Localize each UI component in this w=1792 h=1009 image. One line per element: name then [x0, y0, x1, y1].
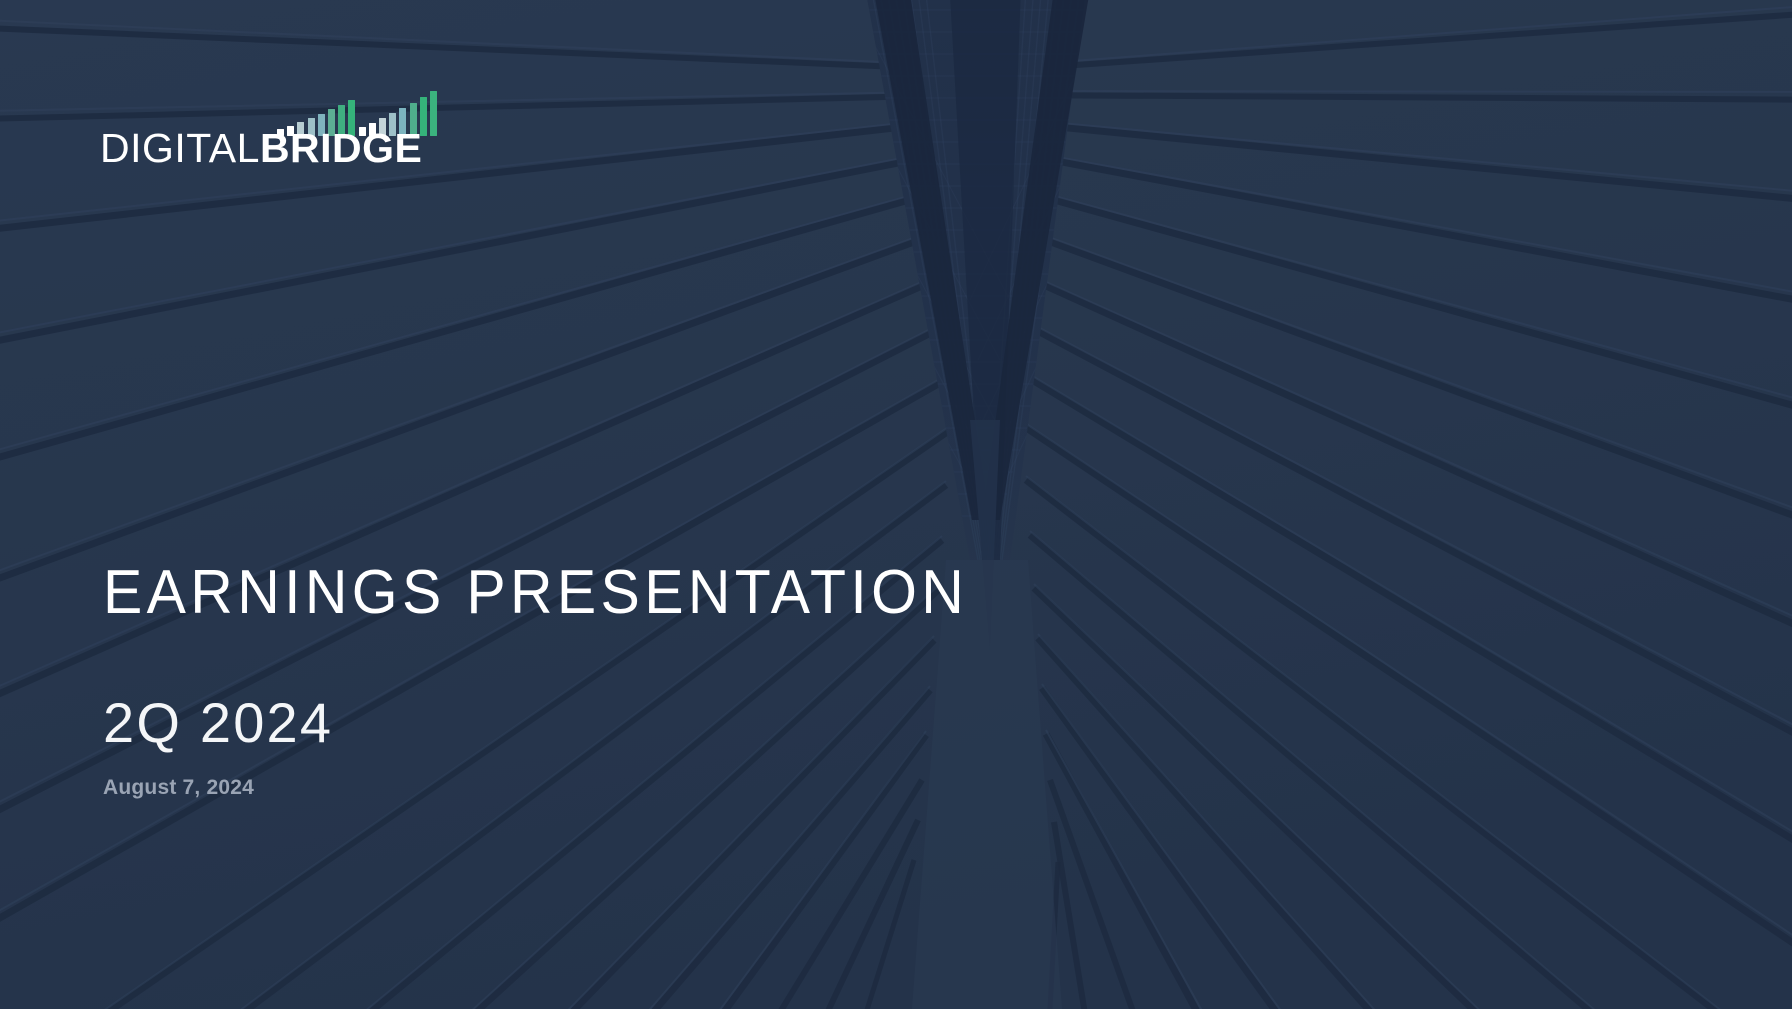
logo-wordmark: DIGITALBRIDGE — [100, 128, 422, 169]
logo-bar — [430, 91, 437, 136]
title-block: EARNINGS PRESENTATION 2Q 2024 August 7, … — [103, 560, 1003, 798]
page-subtitle: 2Q 2024 — [103, 627, 1003, 751]
digitalbridge-logo: DIGITALBRIDGE — [100, 86, 440, 184]
page-title: EARNINGS PRESENTATION — [103, 560, 958, 627]
title-slide: DIGITALBRIDGE EARNINGS PRESENTATION 2Q 2… — [0, 0, 1792, 1009]
presentation-date: August 7, 2024 — [103, 751, 1003, 798]
logo-wordmark-bold: BRIDGE — [260, 125, 422, 171]
logo-wordmark-light: DIGITAL — [100, 125, 260, 171]
